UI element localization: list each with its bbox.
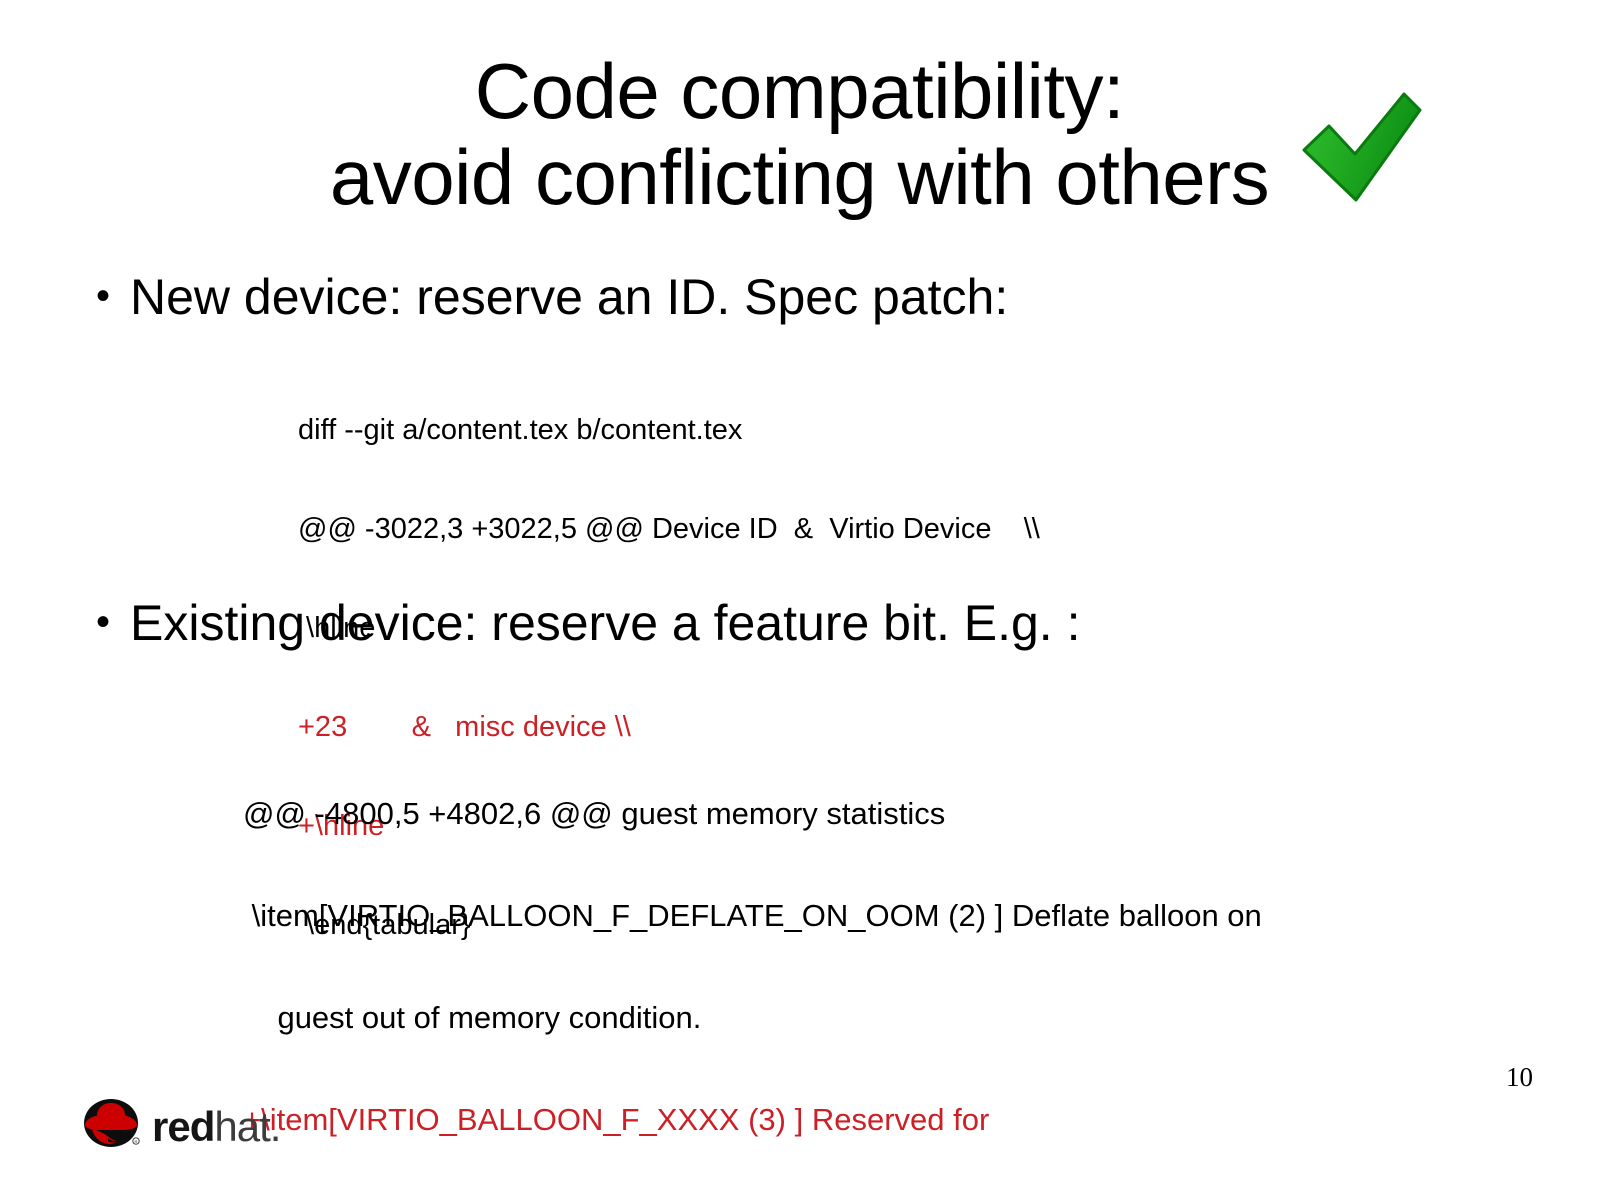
bullet-item-new-device: • New device: reserve an ID. Spec patch: xyxy=(96,268,1008,326)
bullet-label-existing-device: Existing device: reserve a feature bit. … xyxy=(130,594,1080,652)
redhat-wordmark-red: red xyxy=(152,1103,214,1150)
code-line: \item[VIRTIO_BALLOON_F_DEFLATE_ON_OOM (2… xyxy=(243,899,1262,933)
bullet-marker-icon: • xyxy=(96,594,110,650)
code-line-added: +\item[VIRTIO_BALLOON_F_XXXX (3) ] Reser… xyxy=(243,1103,1262,1137)
svg-text:R: R xyxy=(135,1139,138,1144)
code-block-feature-bit: @@ -4800,5 +4802,6 @@ guest memory stati… xyxy=(243,729,1262,1199)
code-line: @@ -4800,5 +4802,6 @@ guest memory stati… xyxy=(243,797,1262,831)
redhat-logo: R redhat. xyxy=(78,1092,280,1154)
redhat-wordmark-dot: . xyxy=(270,1103,281,1150)
slide-canvas: Code compatibility: avoid conflicting wi… xyxy=(0,0,1599,1199)
page-number: 10 xyxy=(1506,1062,1533,1093)
title-line-2-wrap: avoid conflicting with others xyxy=(330,134,1269,220)
green-check-icon xyxy=(1298,88,1426,206)
bullet-label-new-device: New device: reserve an ID. Spec patch: xyxy=(130,268,1008,326)
redhat-shadowman-icon: R xyxy=(78,1093,144,1154)
bullet-item-existing-device: • Existing device: reserve a feature bit… xyxy=(96,594,1080,652)
code-line: guest out of memory condition. xyxy=(243,1001,1262,1035)
redhat-wordmark-hat: hat xyxy=(214,1103,269,1150)
bullet-marker-icon: • xyxy=(96,268,110,324)
redhat-wordmark: redhat. xyxy=(152,1106,280,1148)
code-line: diff --git a/content.tex b/content.tex xyxy=(298,414,1040,447)
code-line: @@ -3022,3 +3022,5 @@ Device ID & Virtio… xyxy=(298,513,1040,546)
title-line-2: avoid conflicting with others xyxy=(330,133,1269,221)
